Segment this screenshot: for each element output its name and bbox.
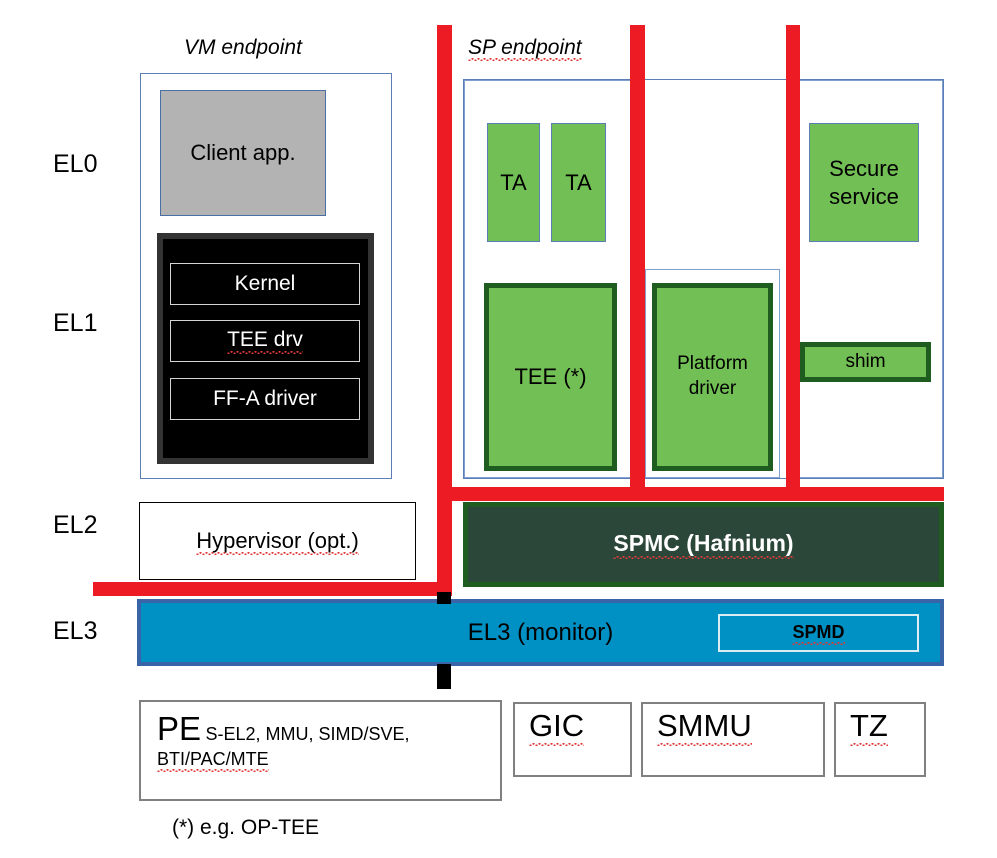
connector-mark-lower xyxy=(437,664,451,689)
trust-boundary-vertical-1 xyxy=(437,25,452,596)
client-app-label: Client app. xyxy=(190,140,295,166)
level-label-el2: EL2 xyxy=(53,511,97,540)
ffa-driver-box: FF-A driver xyxy=(170,378,360,420)
secure-service-label-line2: service xyxy=(829,183,899,211)
hypervisor-label-text: Hypervisor (opt.) xyxy=(196,528,359,555)
pe-features-line2: BTI/PAC/MTE xyxy=(157,749,269,772)
platform-driver-label-line1: Platform xyxy=(677,352,748,377)
platform-driver-box: Platform driver xyxy=(652,283,773,471)
pe-name-label: PE xyxy=(157,710,201,747)
ffa-driver-label: FF-A driver xyxy=(213,387,317,411)
trust-boundary-horizontal-upper xyxy=(437,487,944,501)
tee-box: TEE (*) xyxy=(484,283,617,471)
tee-drv-box: TEE drv xyxy=(170,320,360,362)
architecture-diagram: EL0 EL1 EL2 EL3 VM endpoint SP endpoint … xyxy=(0,0,997,858)
trust-boundary-vertical-3 xyxy=(786,25,800,496)
vm-endpoint-title-text: VM endpoint xyxy=(184,36,302,59)
connector-mark-upper xyxy=(437,592,451,604)
tee-drv-label: TEE drv xyxy=(227,328,303,354)
trust-boundary-horizontal-lower xyxy=(93,582,452,596)
spmc-box: SPMC (Hafnium) xyxy=(463,502,944,587)
secure-service-box: Secure service xyxy=(809,123,919,242)
ta-box-left: TA xyxy=(487,123,540,242)
kernel-box: Kernel xyxy=(170,263,360,305)
smmu-label: SMMU xyxy=(657,708,752,746)
tee-label: TEE (*) xyxy=(514,364,586,390)
shim-box: shim xyxy=(800,342,931,382)
ta-box-right: TA xyxy=(551,123,606,242)
hypervisor-box: Hypervisor (opt.) xyxy=(139,502,416,580)
ta-left-label: TA xyxy=(500,170,526,196)
level-label-el0: EL0 xyxy=(53,150,97,179)
pe-features-line1: S-EL2, MMU, SIMD/SVE, xyxy=(205,724,409,744)
shim-label: shim xyxy=(845,351,885,373)
platform-driver-label-line2: driver xyxy=(689,377,737,402)
hypervisor-label: Hypervisor (opt.) xyxy=(196,528,359,554)
spmd-label: SPMD xyxy=(792,622,844,645)
footnote: (*) e.g. OP-TEE xyxy=(172,816,319,840)
smmu-box: SMMU xyxy=(641,702,825,777)
level-label-el1: EL1 xyxy=(53,309,97,338)
ta-right-label: TA xyxy=(565,170,591,196)
pe-text-block: PE S-EL2, MMU, SIMD/SVE, BTI/PAC/MTE xyxy=(157,712,497,772)
pe-box: PE S-EL2, MMU, SIMD/SVE, BTI/PAC/MTE xyxy=(139,700,502,801)
spmd-box: SPMD xyxy=(718,614,919,652)
gic-label: GIC xyxy=(529,708,584,746)
client-app-box: Client app. xyxy=(160,90,326,216)
tz-label: TZ xyxy=(850,708,888,746)
tz-box: TZ xyxy=(834,702,926,777)
pe-features-line1-text: S-EL2, MMU, SIMD/SVE, xyxy=(205,724,409,744)
trust-boundary-vertical-2 xyxy=(630,25,645,496)
level-label-el3: EL3 xyxy=(53,617,97,646)
spmc-label: SPMC (Hafnium) xyxy=(613,530,793,559)
kernel-label: Kernel xyxy=(235,272,296,296)
gic-box: GIC xyxy=(513,702,632,777)
sp-endpoint-title-text: SP endpoint xyxy=(468,36,582,61)
secure-service-label-line1: Secure xyxy=(829,155,899,183)
el3-monitor-label: EL3 (monitor) xyxy=(468,619,613,647)
vm-endpoint-title: VM endpoint xyxy=(184,36,302,60)
sp-endpoint-title: SP endpoint xyxy=(468,36,582,60)
